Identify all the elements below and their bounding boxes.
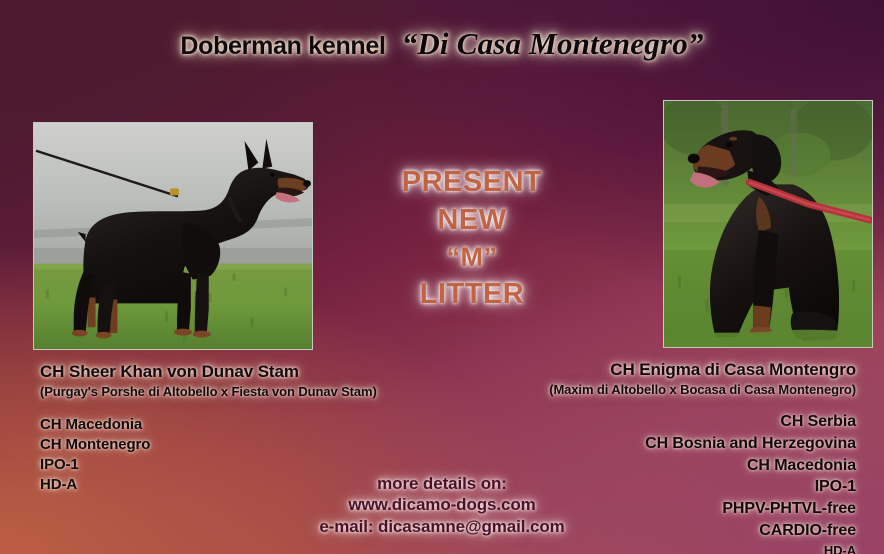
title-item: IPO-1 [549, 476, 856, 498]
title-item: CH Macedonia [40, 415, 377, 435]
title-item: HD-A [549, 542, 856, 554]
right-dog-parents: (Maxim di Altobello x Bocasa di Casa Mon… [549, 382, 856, 397]
right-dog-caption: CH Enigma di Casa Montengro (Maxim di Al… [549, 360, 856, 554]
title-item: CH Bosnia and Herzegovina [549, 433, 856, 455]
right-dog-titles: CH Serbia CH Bosnia and Herzegovina CH M… [549, 411, 856, 554]
right-dog-name: CH Enigma di Casa Montengro [549, 360, 856, 380]
kennel-name: “Di Casa Montenegro” [402, 26, 704, 61]
title-item: PHPV-PHTVL-free [549, 498, 856, 520]
title-item: CH Serbia [549, 411, 856, 433]
contact-intro: more details on: [292, 473, 592, 494]
right-dog-photo [663, 100, 873, 348]
kennel-label: Doberman kennel [180, 32, 385, 60]
title-item: CH Montenegro [40, 435, 377, 455]
kennel-promo-banner: Doberman kennel“Di Casa Montenegro” [0, 0, 884, 554]
left-dog-parents: (Purgay's Porshe di Altobello x Fiesta v… [40, 384, 377, 399]
sitting-doberman-illustration [664, 101, 872, 347]
headline-line-litter-letter: “M” [372, 244, 572, 271]
left-dog-name: CH Sheer Khan von Dunav Stam [40, 362, 377, 382]
banner-header: Doberman kennel“Di Casa Montenegro” [0, 26, 884, 62]
title-item: CARDIO-free [549, 520, 856, 542]
headline-line-litter: LITTER [372, 280, 572, 309]
headline-line-new: NEW [372, 206, 572, 235]
website-link[interactable]: www.dicamo-dogs.com [292, 494, 592, 515]
litter-announcement: PRESENT NEW “M” LITTER [372, 168, 572, 309]
standing-doberman-illustration [34, 123, 312, 349]
left-dog-photo [33, 122, 313, 350]
headline-line-present: PRESENT [372, 168, 572, 197]
title-item: CH Macedonia [549, 455, 856, 477]
contact-block: more details on: www.dicamo-dogs.com e-m… [292, 473, 592, 537]
email-link[interactable]: e-mail: dicasamne@gmail.com [292, 516, 592, 537]
